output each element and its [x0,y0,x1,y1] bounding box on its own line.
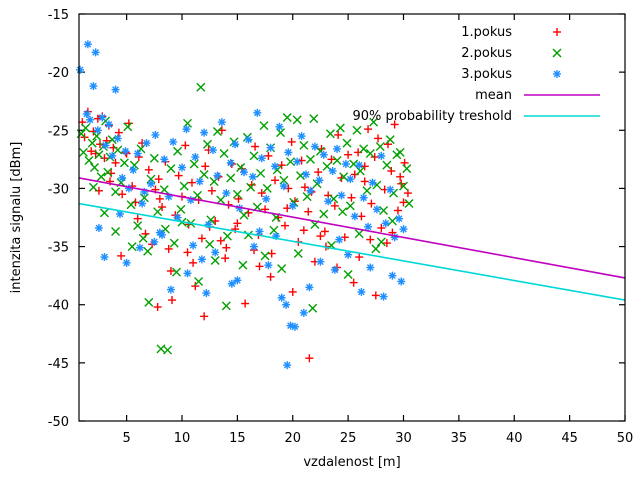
y-tick-label: -45 [48,357,69,372]
y-tick-label: -20 [48,66,69,81]
x-tick-label: 10 [174,431,191,446]
x-tick-label: 15 [229,431,246,446]
y-tick-label: -50 [48,415,69,430]
legend-label-0: 1.pokus [461,25,512,40]
x-tick-label: 50 [617,431,634,446]
x-tick-label: 35 [451,431,468,446]
x-tick-label: 25 [340,431,357,446]
legend-label-1: 2.pokus [461,46,512,61]
x-tick-label: 5 [122,431,130,446]
legend-label-2: 3.pokus [461,67,512,82]
x-tick-label: 30 [395,431,412,446]
y-tick-label: -35 [48,241,69,256]
x-tick-label: 20 [284,431,301,446]
scatter-plot: -15-20-25-30-35-40-45-50 510152025303540… [0,0,640,480]
chart-page: -15-20-25-30-35-40-45-50 510152025303540… [0,0,640,480]
y-tick-label: -40 [48,299,69,314]
y-axis-label: intenzita signalu [dBm] [9,142,24,294]
x-tick-label: 40 [506,431,523,446]
legend-label-3: mean [475,88,512,103]
x-axis-label: vzdalenost [m] [303,455,400,470]
y-tick-label: -30 [48,182,69,197]
y-tick-label: -15 [48,8,69,23]
x-tick-label: 45 [561,431,578,446]
legend-label-4: 90% probability treshold [352,109,512,124]
y-tick-label: -25 [48,124,69,139]
